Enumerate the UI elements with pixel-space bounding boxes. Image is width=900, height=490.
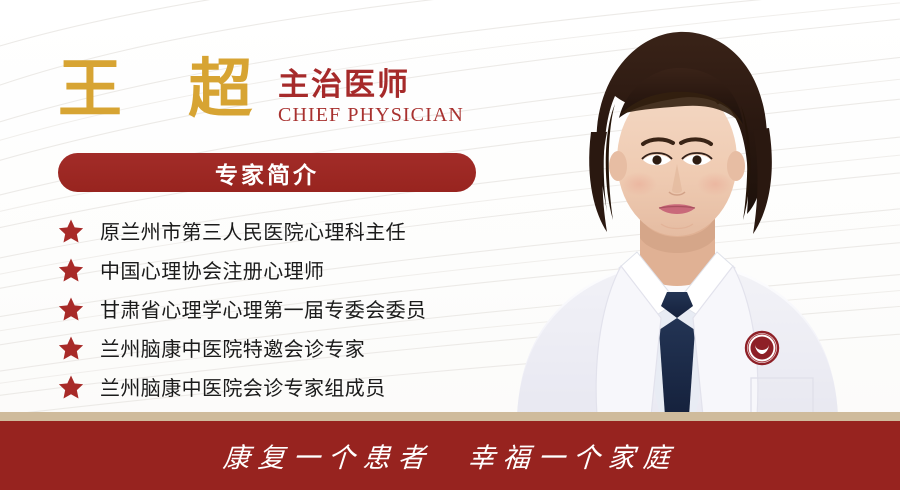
credentials-list: 原兰州市第三人民医院心理科主任 中国心理协会注册心理师 甘肃省心理学心理第一届专…	[58, 211, 498, 406]
credential-text: 甘肃省心理学心理第一届专委会委员	[100, 294, 426, 323]
star-icon	[58, 296, 84, 322]
list-item: 兰州脑康中医院会诊专家组成员	[58, 367, 498, 406]
section-header-pill: 专家简介	[58, 153, 476, 192]
star-icon	[58, 335, 84, 361]
list-item: 甘肃省心理学心理第一届专委会委员	[58, 289, 498, 328]
footer-accent-stripe	[0, 412, 900, 421]
star-icon	[58, 257, 84, 283]
credential-text: 原兰州市第三人民医院心理科主任	[100, 216, 406, 245]
doctor-portrait	[455, 0, 900, 416]
doctor-title-en: CHIEF PHYSICIAN	[278, 104, 464, 127]
doctor-title-block: 主治医师 CHIEF PHYSICIAN	[278, 68, 464, 127]
star-icon	[58, 374, 84, 400]
list-item: 原兰州市第三人民医院心理科主任	[58, 211, 498, 250]
section-header-label: 专家简介	[215, 156, 319, 190]
credential-text: 中国心理协会注册心理师	[100, 255, 324, 284]
footer-band: 康复一个患者 幸福一个家庭	[0, 421, 900, 490]
star-icon	[58, 218, 84, 244]
footer-slogan: 康复一个患者 幸福一个家庭	[221, 436, 679, 475]
credential-text: 兰州脑康中医院特邀会诊专家	[100, 333, 365, 362]
credential-text: 兰州脑康中医院会诊专家组成员	[100, 372, 386, 401]
left-text-column: 王 超 主治医师 CHIEF PHYSICIAN 专家简介 原兰州市第三人民医院…	[0, 0, 520, 416]
doctor-profile-poster: 王 超 主治医师 CHIEF PHYSICIAN 专家简介 原兰州市第三人民医院…	[0, 0, 900, 490]
hospital-badge-icon	[746, 332, 778, 364]
doctor-title-cn: 主治医师	[278, 68, 464, 103]
doctor-name: 王 超	[58, 58, 274, 122]
list-item: 兰州脑康中医院特邀会诊专家	[58, 328, 498, 367]
doctor-name-row: 王 超	[58, 58, 274, 122]
list-item: 中国心理协会注册心理师	[58, 250, 498, 289]
